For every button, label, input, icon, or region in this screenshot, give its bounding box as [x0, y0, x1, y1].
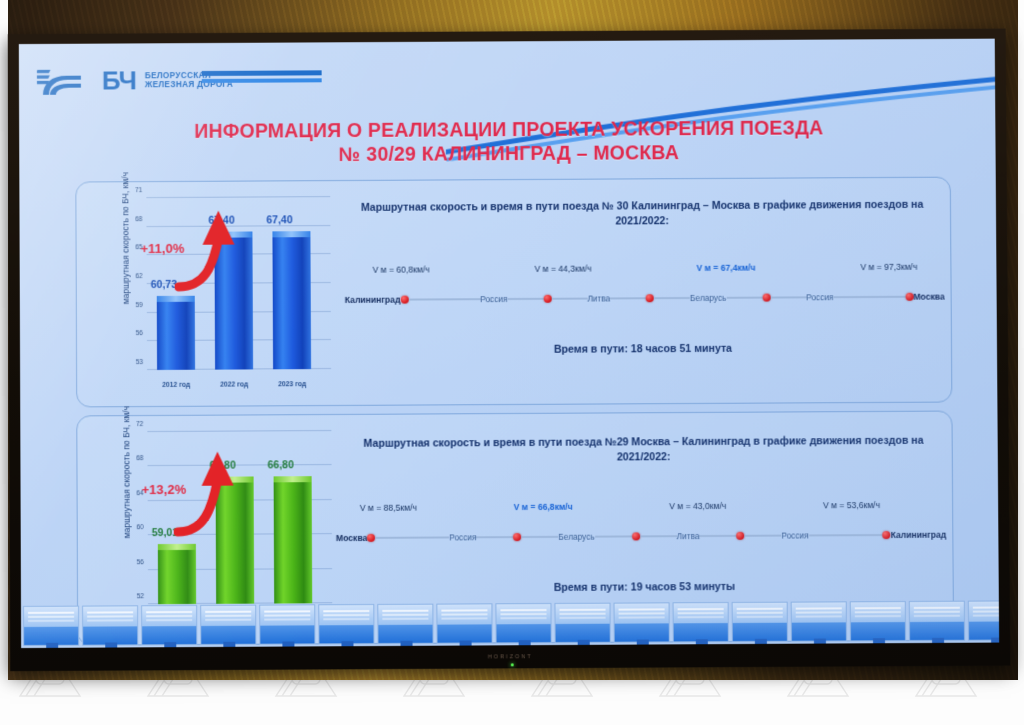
thumbnail-item[interactable] [554, 603, 610, 643]
title-line-2: № 30/29 КАЛИНИНГРАД – МОСКВА [89, 141, 929, 169]
chart1-ytick-71: 71 [124, 187, 142, 194]
panel1-route-stop-1: Калининград [345, 295, 401, 305]
panel1-description-text: Маршрутная скорость и время в пути поезд… [352, 198, 932, 231]
chart2-ytick-52: 52 [126, 593, 144, 600]
route-dot-icon [367, 534, 375, 542]
thumbnail-item[interactable] [850, 601, 906, 641]
route-dot-icon [400, 296, 408, 304]
presentation-slide: БЧ БЕЛОРУССКАЯ ЖЕЛЕЗНАЯ ДОРОГА ИНФОРМАЦИ… [19, 39, 999, 648]
panel1-route-stop-4: Беларусь [690, 293, 726, 303]
power-led-indicator [510, 663, 513, 666]
thumbnail-item[interactable] [968, 600, 999, 640]
thumbnail-item[interactable] [200, 605, 256, 645]
thumbnail-item[interactable] [377, 604, 433, 644]
chart1-plot-area: 71 68 65 62 59 56 53 [146, 197, 331, 370]
panel2-speed-row: V м = 88,5км/ч V м = 66,8км/ч V м = 43,0… [360, 500, 880, 513]
panel2-route: Москва Россия Беларусь Литва Россия Кали… [336, 530, 946, 543]
panel2-speed-1: V м = 88,5км/ч [360, 503, 417, 513]
panel2-speed-2: V м = 66,8км/ч [513, 502, 572, 512]
panel2-route-stop-1: Москва [336, 533, 367, 543]
chart2-ytick-72: 72 [125, 421, 143, 428]
panel1-route-stop-3: Литва [587, 293, 610, 303]
thumbnail-item[interactable] [23, 606, 79, 646]
television-set: БЧ БЕЛОРУССКАЯ ЖЕЛЕЗНАЯ ДОРОГА ИНФОРМАЦИ… [8, 29, 1011, 672]
chart1-xlabel-2023: 2023 год [262, 381, 322, 388]
logo-abbreviation: БЧ [102, 65, 136, 96]
chart1-value-2022: 67,40 [208, 215, 234, 227]
header-accent-bars [202, 70, 322, 86]
chart1-ytick-53: 53 [125, 359, 143, 366]
thumbnail-item[interactable] [82, 605, 138, 645]
thumbnail-item[interactable] [732, 602, 788, 642]
panel2-route-stop-2: Россия [449, 532, 476, 542]
slide-thumbnail-strip[interactable] [21, 600, 999, 648]
panel-train-30: маршрутная скорость по БЧ, км/ч 71 68 65… [75, 177, 952, 408]
panel2-description-text: Маршрутная скорость и время в пути поезд… [353, 434, 933, 467]
thumbnail-item[interactable] [791, 601, 847, 641]
panel1-route: Калининград Россия Литва Беларусь Россия… [345, 292, 945, 305]
chart2-bar-2012[interactable] [158, 544, 196, 604]
route-dot-icon [736, 532, 744, 540]
panel1-speed-1: V м = 60,8км/ч [373, 264, 430, 274]
panel2-route-stop-6: Калининград [891, 530, 947, 540]
panel2-route-stop-4: Литва [677, 531, 700, 541]
route-dot-icon [543, 295, 551, 303]
panel1-route-stop-5: Россия [806, 292, 833, 302]
panel2-route-stop-5: Россия [781, 530, 808, 540]
thumbnail-item[interactable] [318, 604, 374, 644]
route-dot-icon [513, 533, 521, 541]
thumbnail-item[interactable] [259, 604, 315, 644]
panel1-speed-2: V м = 44,3км/ч [534, 264, 591, 274]
chart2-growth-annotation: +13,2% [142, 482, 187, 497]
panel2-travel-time: Время в пути: 19 часов 53 минуты [354, 580, 935, 595]
chart1-bar-2022[interactable] [214, 232, 253, 370]
chart1-xlabel-2012: 2012 год [146, 382, 206, 389]
chart1-value-2012: 60,73 [151, 279, 177, 291]
route-dot-icon [646, 294, 654, 302]
chart1-growth-annotation: +11,0% [141, 241, 185, 256]
route-dot-icon [905, 293, 913, 301]
page-title: ИНФОРМАЦИЯ О РЕАЛИЗАЦИИ ПРОЕКТА УСКОРЕНИ… [89, 117, 929, 169]
panel2-description: Маршрутная скорость и время в пути поезд… [353, 434, 933, 467]
route-dot-icon [883, 531, 891, 539]
thumbnail-item[interactable] [909, 601, 965, 641]
title-line-1: ИНФОРМАЦИЯ О РЕАЛИЗАЦИИ ПРОЕКТА УСКОРЕНИ… [89, 117, 928, 145]
chart1-xlabel-2022: 2022 год [204, 381, 264, 388]
panel1-route-stop-6: Москва [913, 292, 944, 302]
bar-chart-train-29: маршрутная скорость по БЧ, км/ч 72 68 64… [95, 425, 336, 627]
chart1-ytick-62: 62 [125, 273, 143, 280]
panel1-speed-3: V м = 67,4км/ч [696, 263, 755, 273]
thumbnail-item[interactable] [436, 603, 492, 643]
thumbnail-item[interactable] [495, 603, 551, 643]
route-dot-icon [632, 532, 640, 540]
panel1-speed-row: V м = 60,8км/ч V м = 44,3км/ч V м = 67,4… [373, 262, 918, 275]
chart2-value-2012: 59,01 [152, 527, 178, 539]
route-dot-icon [762, 294, 770, 302]
panel1-route-stop-2: Россия [480, 294, 507, 304]
thumbnail-item[interactable] [141, 605, 197, 645]
chart1-ytick-68: 68 [124, 216, 142, 223]
chart1-ytick-56: 56 [125, 330, 143, 337]
chart2-plot-area: 72 68 64 60 56 52 59, [147, 431, 332, 604]
thumbnail-item[interactable] [673, 602, 729, 642]
screen: БЧ БЕЛОРУССКАЯ ЖЕЛЕЗНАЯ ДОРОГА ИНФОРМАЦИ… [19, 39, 999, 648]
bar-chart-train-30: маршрутная скорость по БЧ, км/ч 71 68 65… [94, 191, 335, 392]
chart1-bar-2012[interactable] [157, 296, 195, 370]
railway-logo-icon [37, 66, 95, 96]
panel1-travel-time: Время в пути: 18 часов 51 минута [353, 342, 933, 357]
panel1-speed-4: V м = 97,3км/ч [860, 262, 917, 272]
thumbnail-item[interactable] [614, 602, 670, 642]
chart2-value-2023: 66,80 [268, 459, 294, 471]
chart1-value-2023: 67,40 [266, 215, 292, 227]
monitor-brand-label: HORIZONT [10, 652, 1010, 664]
chart2-bar-2022[interactable] [216, 476, 255, 604]
chart2-bar-2023[interactable] [274, 476, 313, 604]
panel2-speed-4: V м = 53,6км/ч [823, 500, 880, 510]
panel1-description: Маршрутная скорость и время в пути поезд… [352, 198, 932, 231]
chart2-ytick-68: 68 [125, 455, 143, 462]
chart2-ytick-60: 60 [126, 524, 144, 531]
panel2-route-stop-3: Беларусь [558, 532, 594, 542]
chart2-value-2022: 66,80 [209, 459, 235, 471]
panel2-speed-3: V м = 43,0км/ч [669, 501, 726, 511]
chart1-ytick-59: 59 [125, 302, 143, 309]
chart2-ytick-56: 56 [126, 559, 144, 566]
chart1-bar-2023[interactable] [272, 232, 311, 370]
